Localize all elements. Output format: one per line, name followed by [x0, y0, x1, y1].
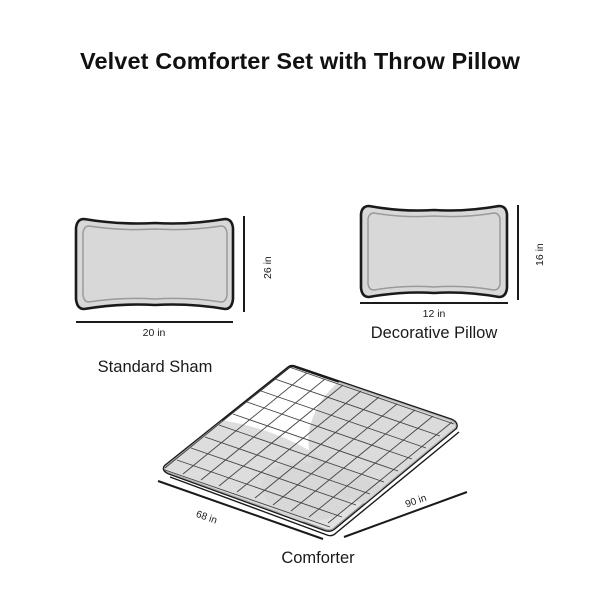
sham-inner-flange — [83, 226, 227, 302]
pillow-inner-flange — [368, 213, 500, 290]
standard-sham-illustration — [76, 216, 244, 322]
pillow-body — [361, 206, 507, 297]
sham-body — [76, 219, 233, 309]
caption-comforter: Comforter — [218, 549, 418, 568]
pillow-width-label: 12 in — [384, 308, 484, 320]
diagram-artwork — [0, 0, 600, 600]
comforter-width-dimension-line — [158, 481, 323, 539]
page-title: Velvet Comforter Set with Throw Pillow — [0, 48, 600, 75]
caption-decorative-pillow: Decorative Pillow — [334, 324, 534, 343]
sham-width-label: 20 in — [104, 327, 204, 339]
comforter-length-label: 90 in — [404, 493, 428, 511]
comforter-width-label: 68 in — [194, 509, 218, 527]
comforter-shadow-left — [137, 398, 363, 543]
product-dimension-sheet: Velvet Comforter Set with Throw Pillow — [0, 0, 600, 600]
comforter-shadow-right — [289, 336, 501, 527]
pillow-height-label: 16 in — [534, 243, 546, 266]
caption-standard-sham: Standard Sham — [55, 358, 255, 377]
decorative-pillow-illustration — [360, 205, 518, 303]
comforter-shadow-bottom — [253, 448, 406, 552]
sham-height-label: 26 in — [262, 256, 274, 279]
